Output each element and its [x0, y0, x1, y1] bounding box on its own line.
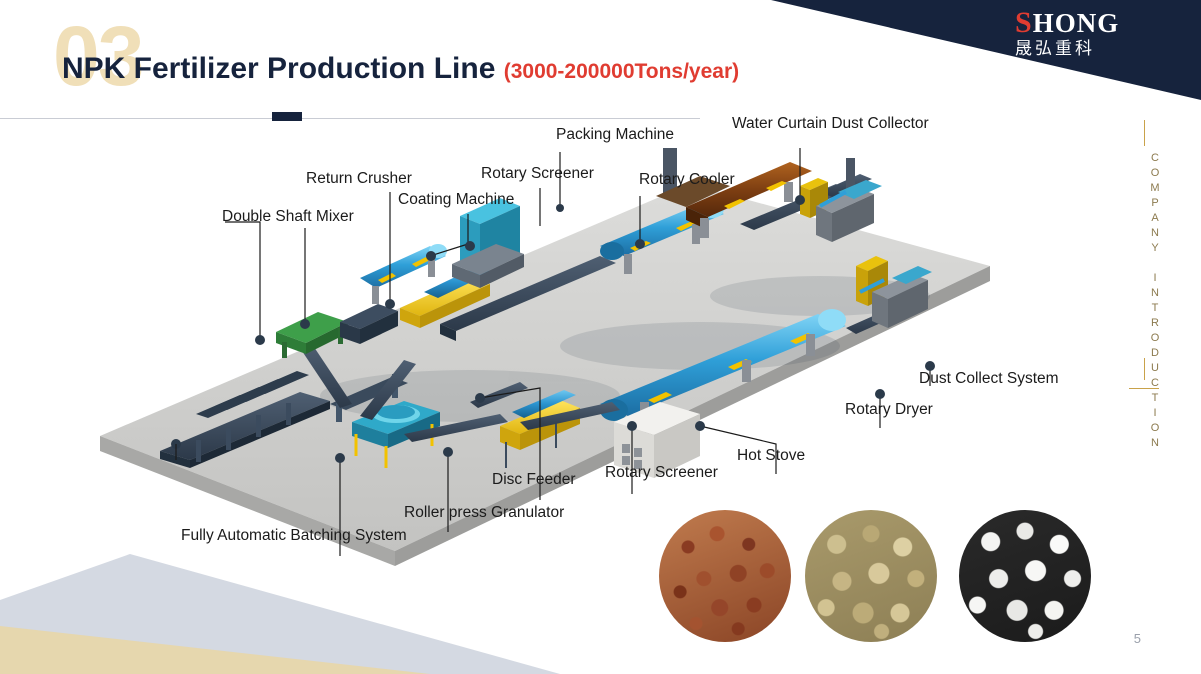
label-hot-stove: Hot Stove [737, 447, 805, 465]
page-title: NPK Fertilizer Production Line (3000-200… [62, 52, 739, 86]
product-npk-red [659, 510, 791, 642]
rail-line-bottom [1144, 358, 1145, 380]
product-npk-red-image [659, 510, 791, 642]
label-disc-feeder: Disc Feeder [492, 471, 576, 489]
label-water-curtain-dust-collector: Water Curtain Dust Collector [732, 115, 929, 133]
label-double-shaft-mixer: Double Shaft Mixer [222, 208, 354, 226]
logo-chinese-name: 晟弘重科 [1015, 38, 1155, 60]
slide: SHONG 晟弘重科 03 NPK Fertilizer Production … [0, 0, 1201, 674]
label-dust-collect-system: Dust Collect System [919, 370, 1059, 388]
company-logo: SHONG 晟弘重科 [1015, 8, 1155, 68]
page-title-text: NPK Fertilizer Production Line [62, 52, 495, 85]
product-npk-tan [805, 510, 937, 642]
rail-line-top [1144, 120, 1145, 146]
capacity-range: (3000-200000Tons/year) [504, 60, 739, 83]
label-packing-machine: Packing Machine [556, 126, 674, 144]
product-npk-white [959, 510, 1091, 642]
label-rotary-cooler: Rotary Cooler [639, 171, 735, 189]
page-number: 5 [1134, 631, 1141, 646]
product-npk-tan-image [805, 510, 937, 642]
label-fully-automatic-batching: Fully Automatic Batching System [181, 527, 407, 545]
label-coating-machine: Coating Machine [398, 191, 514, 209]
rail-dash [1129, 388, 1159, 389]
product-npk-white-image [959, 510, 1091, 642]
label-roller-press-granulator: Roller press Granulator [404, 504, 564, 522]
logo-wordmark: HONG [1033, 8, 1120, 38]
label-rotary-dryer: Rotary Dryer [845, 401, 933, 419]
label-rotary-screener-top: Rotary Screener [481, 165, 594, 183]
label-rotary-screener-bottom: Rotary Screener [605, 464, 718, 482]
rail-label: COMPANY INTRODUCTION [1121, 152, 1165, 452]
label-return-crusher: Return Crusher [306, 170, 412, 188]
logo-initial: S [1015, 6, 1033, 39]
